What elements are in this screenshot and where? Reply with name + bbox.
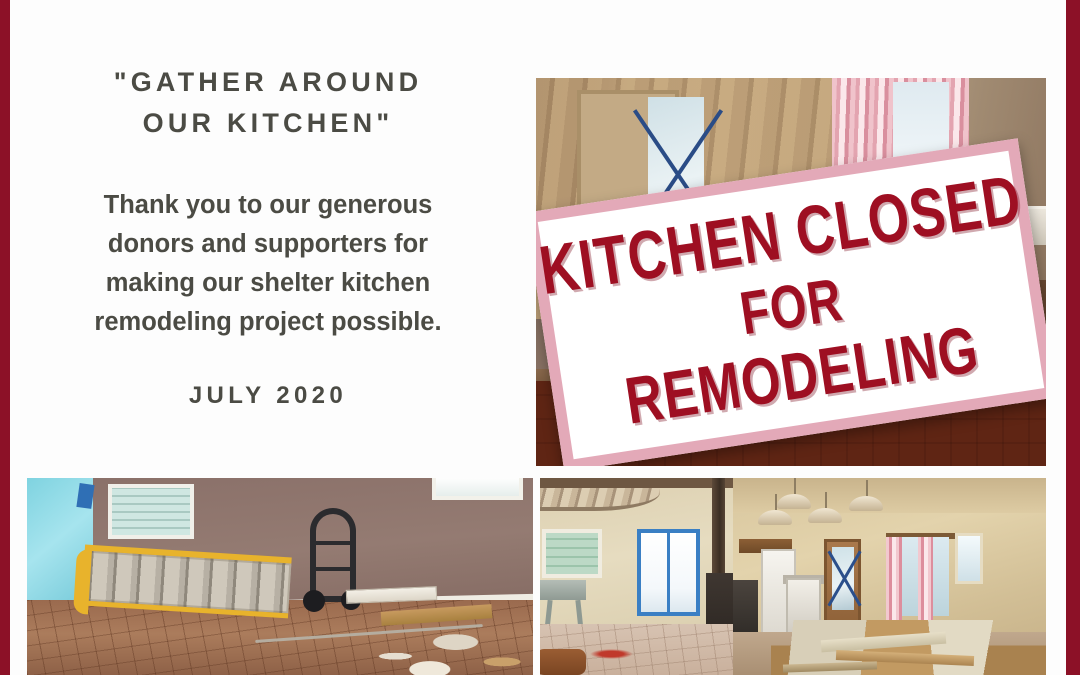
window-left <box>108 484 194 539</box>
window-pane <box>542 529 602 578</box>
photo-hall-french-doors <box>540 478 733 675</box>
window-right <box>432 478 523 500</box>
hall-scene <box>540 478 733 675</box>
kitchen-demolition-scene: KITCHEN CLOSED FOR REMODELING <box>536 78 1046 466</box>
floor-debris <box>361 628 533 675</box>
photo-empty-room-ladder <box>27 478 533 675</box>
window-pane <box>955 533 983 584</box>
sign-line-2: FOR <box>736 268 846 343</box>
text-column: "GATHER AROUND OUR KITCHEN" Thank you to… <box>18 62 518 410</box>
blue-tape-x-icon <box>832 547 854 610</box>
work-table <box>540 580 586 600</box>
poster-headline: "GATHER AROUND OUR KITCHEN" <box>18 62 518 144</box>
empty-room-scene <box>27 478 533 675</box>
ceiling-beam <box>540 478 733 488</box>
blue-tape-strip <box>76 483 94 509</box>
hand-truck-rung <box>310 541 356 545</box>
left-accent-bar <box>0 0 10 675</box>
window-pane <box>933 537 949 616</box>
window-pane <box>902 537 918 616</box>
red-debris <box>590 649 632 659</box>
tool-bag <box>540 649 586 675</box>
right-accent-bar <box>1066 0 1080 675</box>
hand-truck-wheel <box>303 590 325 612</box>
hand-truck-rung <box>310 567 356 571</box>
striped-curtain <box>918 537 934 622</box>
poster-date: JULY 2020 <box>18 382 518 410</box>
folded-ladder <box>81 544 292 618</box>
dark-appliance <box>733 580 758 639</box>
door-mullion <box>667 529 670 616</box>
hand-truck-frame <box>310 508 356 603</box>
kitchen-appliances-scene <box>733 478 1046 675</box>
striped-curtain <box>886 537 902 622</box>
photo-kitchen-appliances-debris <box>733 478 1046 675</box>
poster-body-text: Thank you to our generous donors and sup… <box>18 186 518 342</box>
photo-kitchen-demolition: KITCHEN CLOSED FOR REMODELING <box>536 78 1046 466</box>
poster-canvas: "GATHER AROUND OUR KITCHEN" Thank you to… <box>0 0 1080 675</box>
